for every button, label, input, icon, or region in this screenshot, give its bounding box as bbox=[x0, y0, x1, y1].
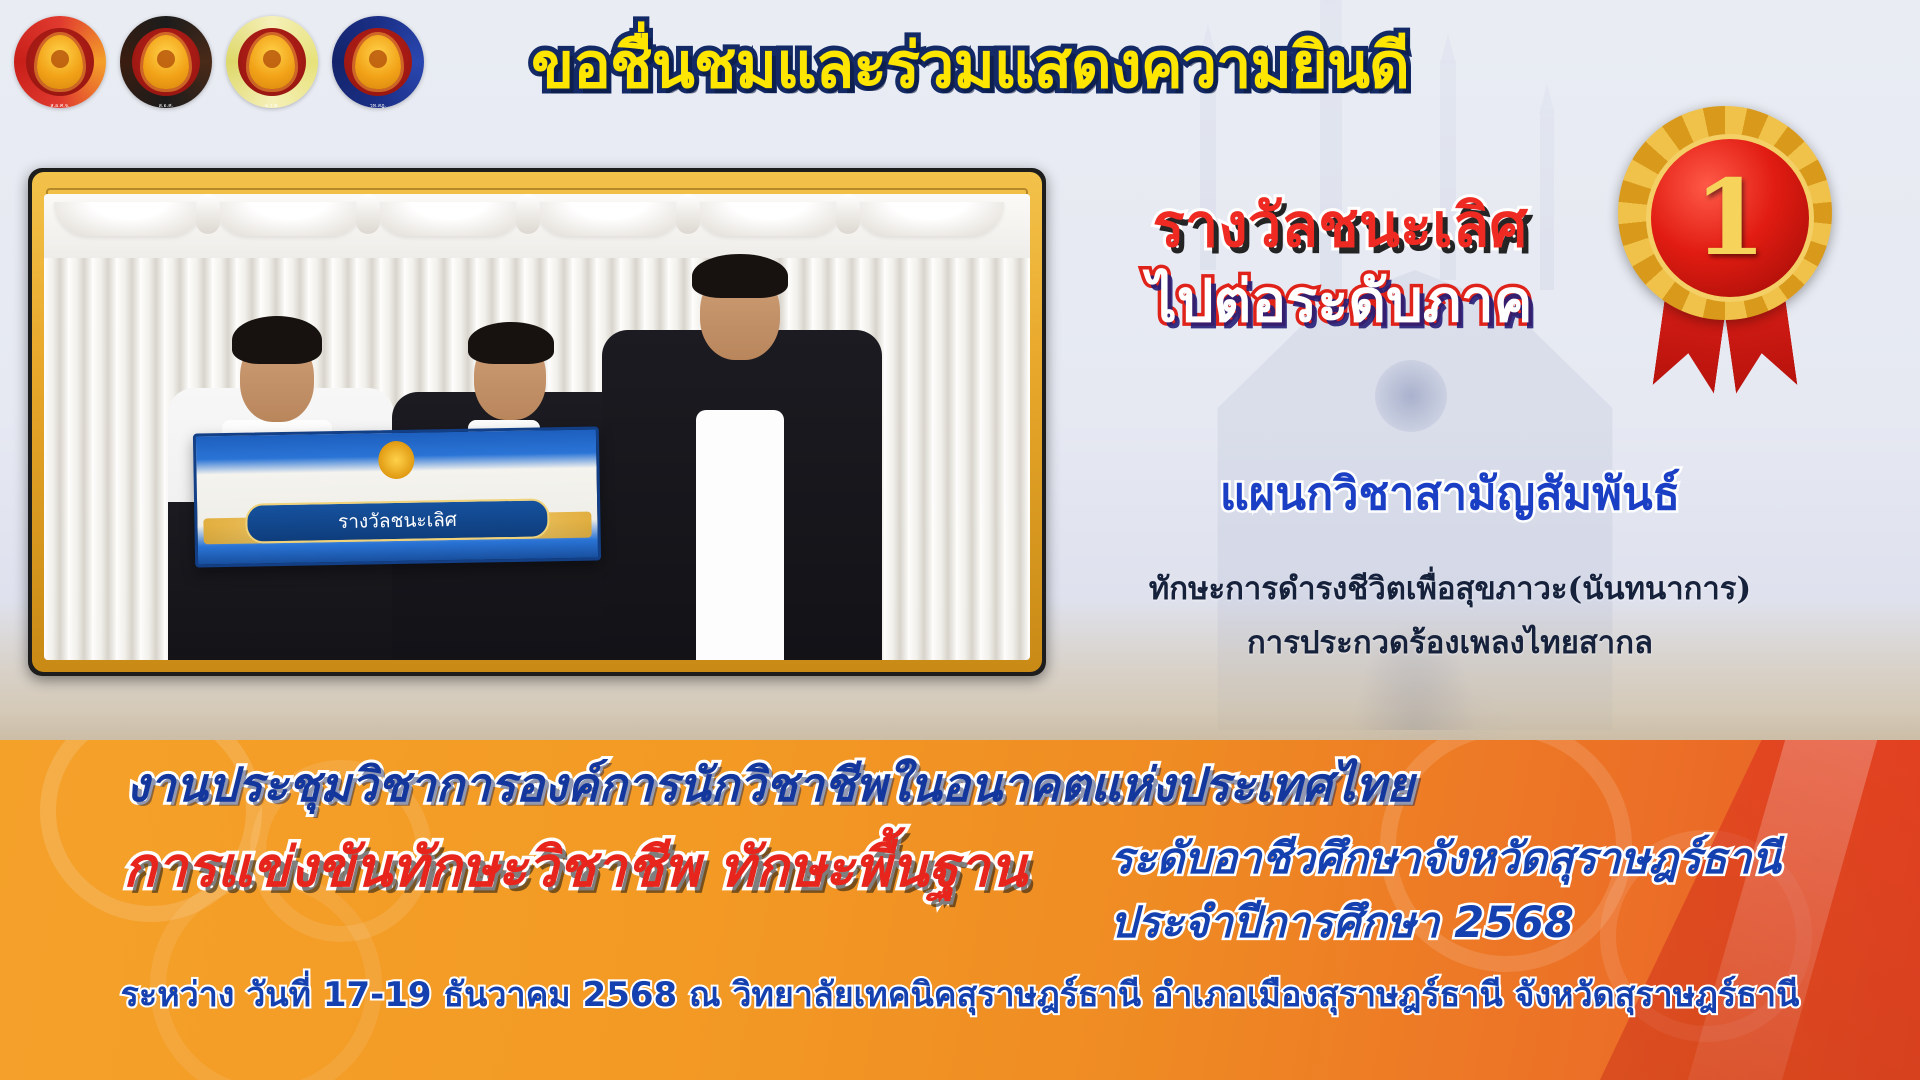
curtain-swag bbox=[854, 202, 1004, 236]
curtain-knot bbox=[196, 194, 220, 234]
department-subtitle-skill: ทักษะการดำรงชีวิตเพื่อสุขภาวะ(นันทนาการ) bbox=[1000, 572, 1900, 606]
first-place-rosette: 1 bbox=[1600, 100, 1850, 380]
banner-event-name: งานประชุมวิชาการองค์การนักวิชาชีพในอนาคต… bbox=[20, 762, 1520, 809]
event-banner: งานประชุมวิชาการองค์การนักวิชาชีพในอนาคต… bbox=[0, 740, 1920, 1080]
rosette-center: 1 bbox=[1646, 134, 1814, 302]
person-hair bbox=[468, 322, 554, 364]
banner-date-venue: ระหว่าง วันที่ 17-19 ธันวาคม 2568 ณ วิทย… bbox=[0, 978, 1920, 1012]
page-title: ขอชื่นชมและร่วมแสดงความยินดี bbox=[470, 34, 1470, 97]
thai-emblem-icon bbox=[143, 35, 189, 89]
curtain-swag bbox=[374, 202, 524, 236]
award-title-secondary: ไปต่อระดับภาค bbox=[1040, 272, 1640, 330]
person-teacher-right bbox=[592, 248, 892, 660]
award-photo: รางวัลชนะเลิศ bbox=[44, 194, 1030, 660]
curtain-knot bbox=[356, 194, 380, 234]
curtain-knot bbox=[836, 194, 860, 234]
curtain-knot bbox=[516, 194, 540, 234]
curtain-swag bbox=[534, 202, 684, 236]
logo-caption: อ.ว.ท. bbox=[226, 102, 318, 110]
thai-emblem-icon bbox=[355, 35, 401, 89]
temple-seal-icon bbox=[1375, 360, 1447, 432]
banner-competition-name: การแข่งขันทักษะวิชาชีพ ทักษะพื้นฐาน bbox=[10, 840, 1140, 895]
department-title: แผนกวิชาสามัญสัมพันธ์ bbox=[1030, 470, 1870, 517]
logo-surat-thani-vocational-education-office: ส.อ.ศ.จ. bbox=[14, 16, 106, 108]
logo-inner bbox=[344, 28, 412, 96]
logo-caption: วท.สฎ. bbox=[332, 102, 424, 110]
photo-frame: รางวัลชนะเลิศ bbox=[28, 168, 1046, 676]
curtain-swag bbox=[54, 202, 204, 236]
person-hair bbox=[692, 254, 788, 298]
logo-caption: ส.อ.ศ.จ. bbox=[14, 102, 106, 110]
curtain-swag bbox=[214, 202, 364, 236]
logo-surat-thani-technical-college: วท.สฎ. bbox=[332, 16, 424, 108]
board-award-label: รางวัลชนะเลิศ bbox=[245, 498, 550, 543]
board-seal-icon bbox=[378, 441, 415, 480]
person-shirt bbox=[696, 410, 784, 660]
logo-caption: ส.อ.ศ. bbox=[120, 102, 212, 110]
curtain-swag bbox=[694, 202, 844, 236]
thai-emblem-icon bbox=[37, 35, 83, 89]
award-title-primary: รางวัลชนะเลิศ bbox=[1060, 196, 1620, 256]
banner-academic-year: ประจำปีการศึกษา 2568 bbox=[1110, 902, 1910, 945]
rosette-place-number: 1 bbox=[1694, 166, 1766, 270]
thai-emblem-icon bbox=[249, 35, 295, 89]
logo-row: ส.อ.ศ.จ. ส.อ.ศ. อ.ว.ท. วท.สฎ. bbox=[14, 16, 424, 108]
logo-vocational-education-commission: ส.อ.ศ. bbox=[120, 16, 212, 108]
logo-inner bbox=[238, 28, 306, 96]
curtain-knot bbox=[676, 194, 700, 234]
logo-association-of-future-thai-professionals: อ.ว.ท. bbox=[226, 16, 318, 108]
logo-inner bbox=[26, 28, 94, 96]
department-subtitle-contest: การประกวดร้องเพลงไทยสากล bbox=[1000, 626, 1900, 660]
logo-inner bbox=[132, 28, 200, 96]
banner-level: ระดับอาชีวศึกษาจังหวัดสุราษฎร์ธานี bbox=[1110, 838, 1910, 881]
poster-root: ส.อ.ศ.จ. ส.อ.ศ. อ.ว.ท. วท.สฎ. ขอชื่นชมแล… bbox=[0, 0, 1920, 1080]
person-hair bbox=[232, 316, 322, 364]
award-board: รางวัลชนะเลิศ bbox=[193, 426, 601, 567]
